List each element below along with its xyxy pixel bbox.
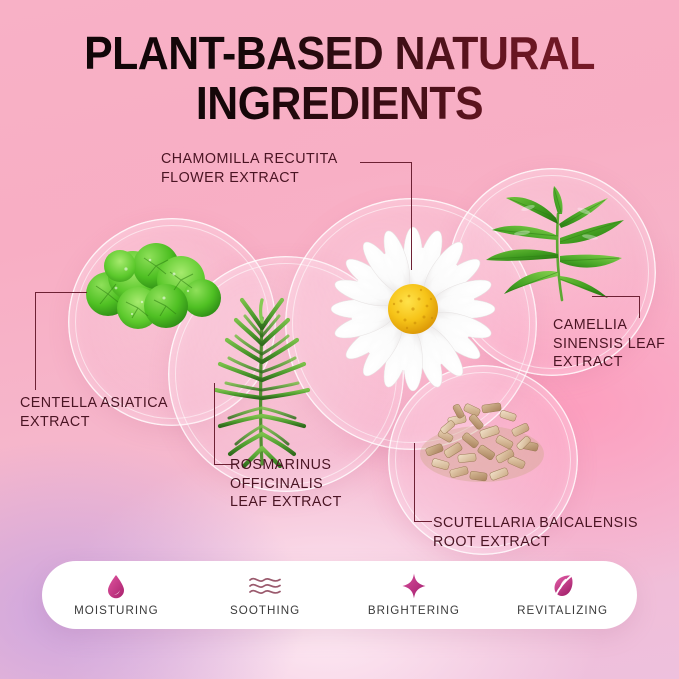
title-line-1: PLANT-BASED NATURAL [57,28,622,78]
benefit-label: SOOTHING [230,604,300,617]
leader-line-chamomilla [360,162,416,270]
benefits-bar: MOISTURING SOOTHING [42,561,637,629]
ingredient-label-camellia: CAMELLIA SINENSIS LEAF EXTRACT [553,316,665,372]
benefit-moisturing: MOISTURING [42,573,191,617]
leader-line-centella [27,292,87,392]
sparkle-icon [402,573,426,599]
ingredient-label-chamomilla: CHAMOMILLA RECUTITA FLOWER EXTRACT [161,150,338,187]
benefit-label: REVITALIZING [517,604,608,617]
benefit-revitalizing: REVITALIZING [488,573,637,617]
leader-line-scutellaria [414,443,440,525]
benefit-brightering: BRIGHTERING [340,573,489,617]
benefit-label: MOISTURING [74,604,159,617]
leaf-icon [552,573,574,599]
ingredient-label-rosmarinus: ROSMARINUS OFFICINALIS LEAF EXTRACT [230,456,342,512]
droplet-icon [106,573,126,599]
benefit-soothing: SOOTHING [191,573,340,617]
waves-icon [248,573,282,599]
leader-line-camellia [592,296,644,318]
ingredient-label-centella: CENTELLA ASIATICA EXTRACT [20,394,168,431]
benefit-label: BRIGHTERING [368,604,460,617]
ingredient-label-scutellaria: SCUTELLARIA BAICALENSIS ROOT EXTRACT [433,514,638,551]
title-line-2: INGREDIENTS [57,78,622,128]
poster-canvas: PLANT-BASED NATURAL INGREDIENTS [0,0,679,679]
page-title: PLANT-BASED NATURAL INGREDIENTS [0,28,679,128]
